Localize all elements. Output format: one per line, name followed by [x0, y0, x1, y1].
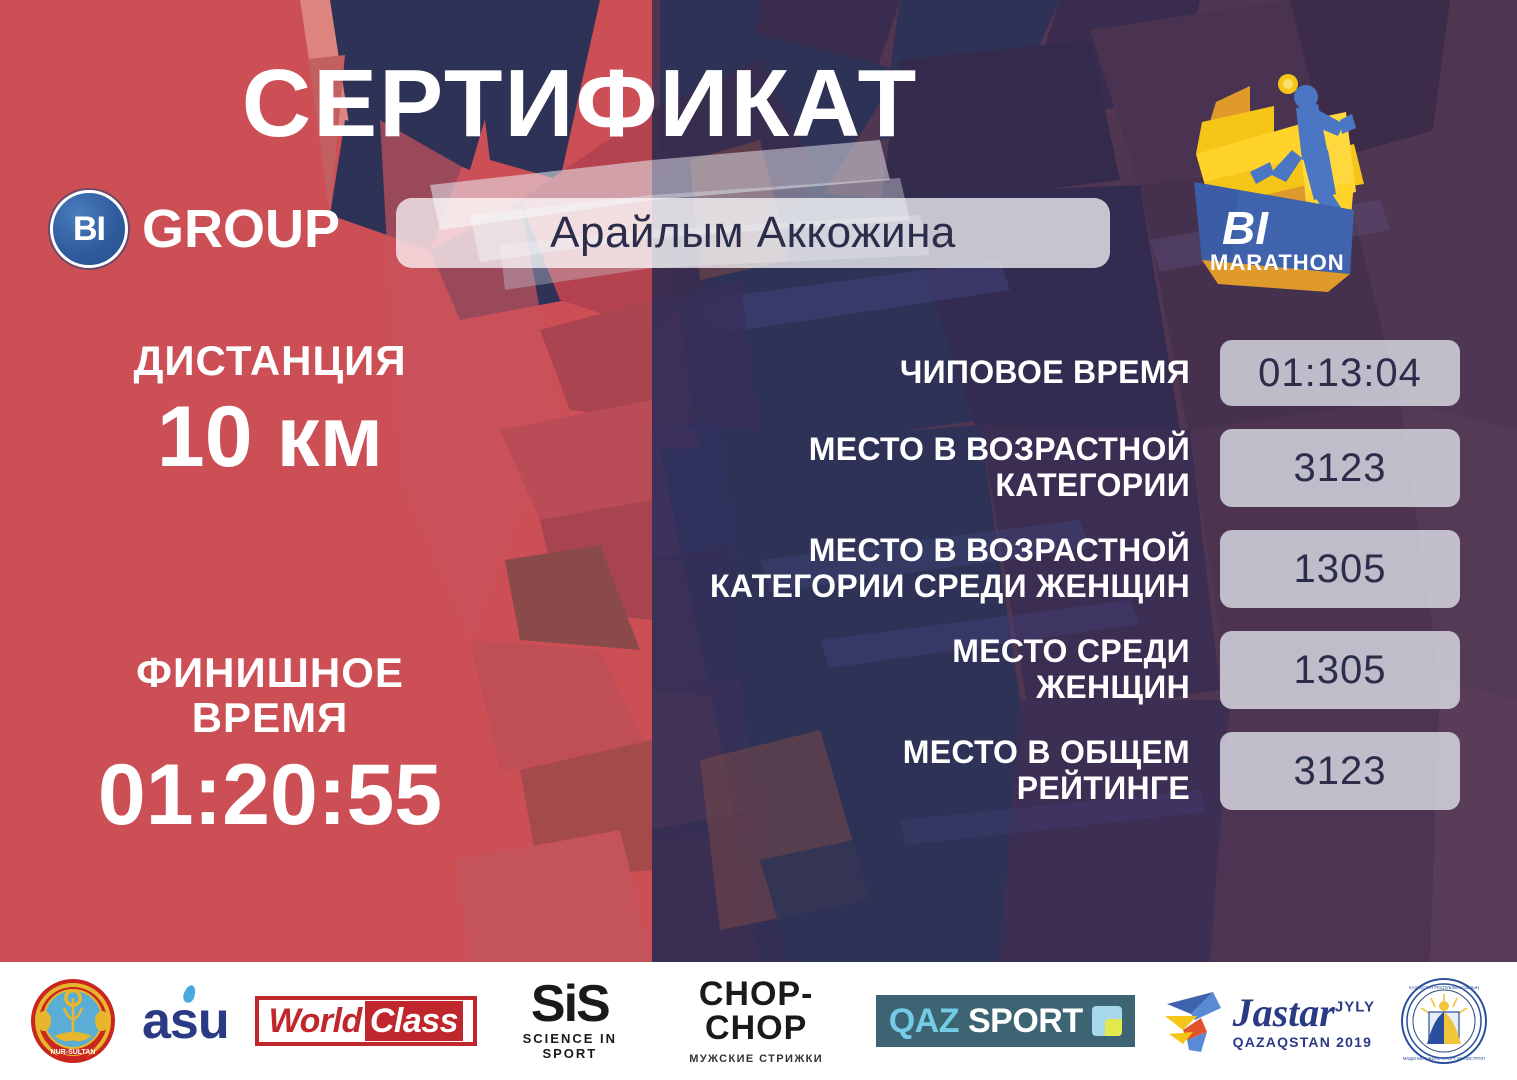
stats-list: ЧИПОВОЕ ВРЕМЯ 01:13:04 МЕСТО В ВОЗРАСТНО…	[520, 340, 1460, 833]
certificate: СЕРТИФИКАТ BI GROUP Арайлым Аккожина	[0, 0, 1517, 1080]
finish-time-label-line1: ФИНИШНОЕ	[0, 650, 540, 695]
svg-text:BI: BI	[1222, 202, 1269, 254]
stat-value: 1305	[1220, 530, 1460, 608]
sponsor-footer: NUR-SULTAN asu WorldClass SiS SCIENCE IN…	[0, 962, 1517, 1080]
stat-value: 1305	[1220, 631, 1460, 709]
sponsor-asu: asu	[142, 978, 229, 1064]
stat-label: ЧИПОВОЕ ВРЕМЯ	[520, 355, 1220, 391]
stat-value: 3123	[1220, 732, 1460, 810]
svg-text:МӘДЕНИЕТ ЖӘНЕ СПОРТ МИНИСТРЛІГ: МӘДЕНИЕТ ЖӘНЕ СПОРТ МИНИСТРЛІГІ	[1403, 1056, 1485, 1061]
bi-marathon-logo: BI MARATHON	[1178, 62, 1390, 292]
jastar-sup: JYLY	[1335, 999, 1375, 1016]
sponsor-chop-chop: CHOP-CHOP МУЖСКИЕ СТРИЖКИ	[663, 978, 850, 1064]
qazsport-mark-icon	[1092, 1006, 1122, 1036]
bi-group-wordmark: GROUP	[142, 198, 340, 260]
page-title: СЕРТИФИКАТ	[0, 56, 1160, 152]
stat-value: 3123	[1220, 429, 1460, 507]
jastar-wordmark: Jastar	[1233, 990, 1335, 1035]
svg-text:ҚАЗАҚСТАН РЕСПУБЛИКАСЫНЫҢ: ҚАЗАҚСТАН РЕСПУБЛИКАСЫНЫҢ	[1409, 985, 1479, 990]
sponsor-science-in-sport: SiS SCIENCE IN SPORT	[503, 978, 637, 1064]
world-class-word1: World	[269, 1002, 362, 1040]
finish-time-block: ФИНИШНОЕ ВРЕМЯ 01:20:55	[0, 650, 540, 843]
stat-row-chip-time: ЧИПОВОЕ ВРЕМЯ 01:13:04	[520, 340, 1460, 406]
svg-text:MARATHON: MARATHON	[1210, 250, 1345, 275]
stat-row-overall-place: МЕСТО В ОБЩЕМ РЕЙТИНГЕ 3123	[520, 732, 1460, 810]
distance-label: ДИСТАНЦИЯ	[0, 338, 540, 383]
ministry-seal-icon: ҚАЗАҚСТАН РЕСПУБЛИКАСЫНЫҢ МӘДЕНИЕТ ЖӘНЕ …	[1401, 978, 1487, 1064]
finish-time-value: 01:20:55	[0, 747, 540, 843]
stat-row-age-category-place: МЕСТО В ВОЗРАСТНОЙ КАТЕГОРИИ 3123	[520, 429, 1460, 507]
bi-badge-icon: BI	[50, 190, 128, 268]
stat-label: МЕСТО В ОБЩЕМ РЕЙТИНГЕ	[520, 735, 1220, 807]
stat-value: 01:13:04	[1220, 340, 1460, 406]
qazsport-word2: SPORT	[968, 1004, 1083, 1038]
stat-row-age-category-women-place: МЕСТО В ВОЗРАСТНОЙ КАТЕГОРИИ СРЕДИ ЖЕНЩИ…	[520, 530, 1460, 608]
qazsport-word1: QAZ	[889, 1004, 959, 1038]
sis-wordmark: SiS	[503, 981, 637, 1028]
sponsor-ministry-seal: ҚАЗАҚСТАН РЕСПУБЛИКАСЫНЫҢ МӘДЕНИЕТ ЖӘНЕ …	[1401, 978, 1487, 1064]
nur-sultan-seal-icon: NUR-SULTAN	[30, 978, 116, 1064]
jastar-subtitle: QAZAQSTAN 2019	[1233, 1035, 1375, 1049]
sis-tagline: SCIENCE IN SPORT	[503, 1031, 637, 1061]
stat-label: МЕСТО В ВОЗРАСТНОЙ КАТЕГОРИИ	[520, 432, 1220, 504]
stat-label: МЕСТО В ВОЗРАСТНОЙ КАТЕГОРИИ СРЕДИ ЖЕНЩИ…	[520, 533, 1220, 605]
jastar-arrow-icon	[1161, 986, 1229, 1056]
sponsor-qazsport: QAZSPORT	[876, 978, 1135, 1064]
world-class-word2: Class	[365, 1001, 463, 1041]
finish-time-label-line2: ВРЕМЯ	[0, 695, 540, 740]
stat-label: МЕСТО СРЕДИ ЖЕНЩИН	[520, 634, 1220, 706]
distance-value: 10 км	[0, 389, 540, 485]
svg-text:NUR-SULTAN: NUR-SULTAN	[51, 1049, 96, 1056]
chop-chop-wordmark: CHOP-CHOP	[663, 977, 850, 1045]
bi-group-logo: BI GROUP	[50, 190, 340, 268]
sponsor-nur-sultan-seal: NUR-SULTAN	[30, 978, 116, 1064]
stat-row-women-place: МЕСТО СРЕДИ ЖЕНЩИН 1305	[520, 631, 1460, 709]
chop-chop-tagline: МУЖСКИЕ СТРИЖКИ	[663, 1053, 850, 1065]
participant-name: Арайлым Аккожина	[396, 198, 1110, 268]
sponsor-world-class: WorldClass	[255, 978, 477, 1064]
sponsor-jastar-jyly: JastarJYLY QAZAQSTAN 2019	[1161, 978, 1375, 1064]
distance-block: ДИСТАНЦИЯ 10 км	[0, 338, 540, 486]
